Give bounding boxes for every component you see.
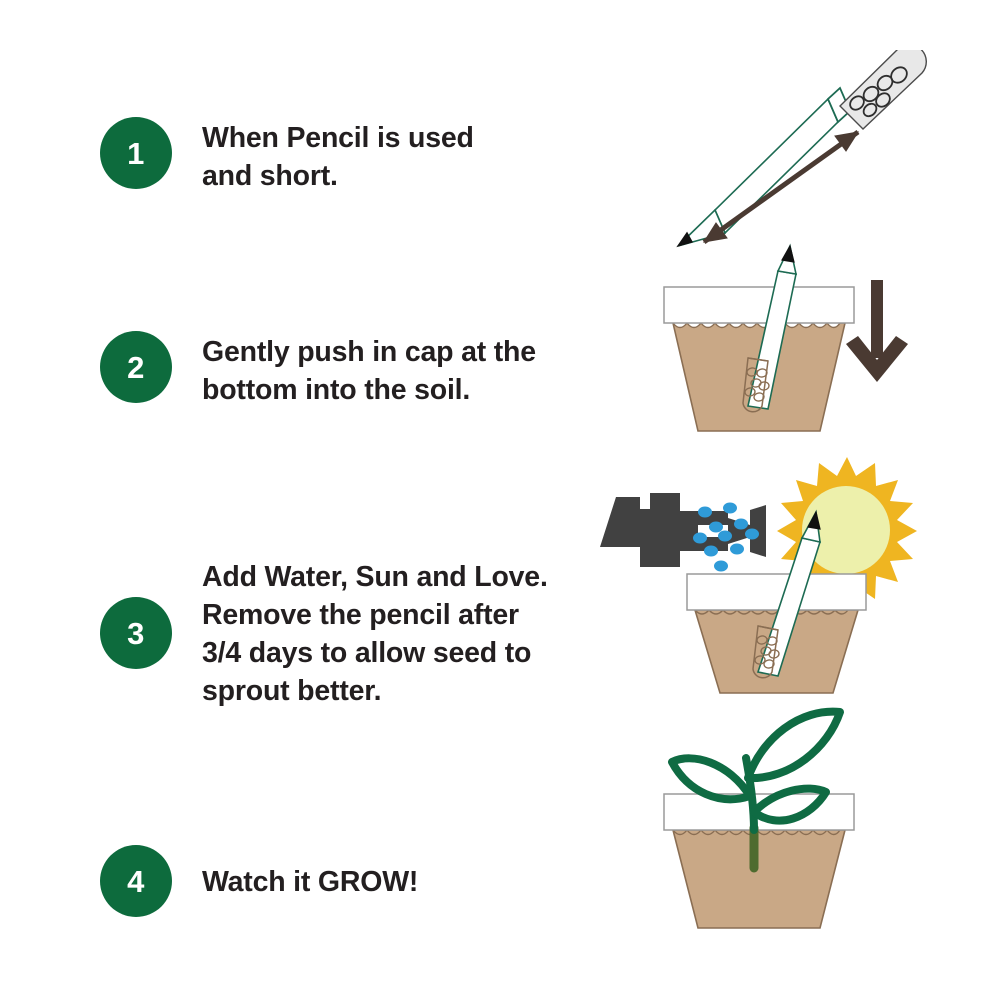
infographic-canvas: 1 When Pencil is used and short. — [0, 0, 1000, 1000]
watering-can-icon — [600, 493, 766, 567]
pot-watering-sun-icon — [580, 450, 940, 700]
water-sun-love-illustration — [580, 450, 940, 705]
arrow-down-icon — [846, 280, 908, 382]
pot-rim — [664, 287, 854, 323]
pot-with-seedling-icon — [650, 700, 930, 940]
inserted-pencil-tip — [782, 246, 794, 262]
step-3: 3 Add Water, Sun and Love. Remove the pe… — [100, 556, 548, 710]
pencil-body — [678, 88, 850, 246]
seed-capsule — [840, 50, 926, 129]
step-instruction-1: When Pencil is used and short. — [202, 117, 474, 195]
step-number-badge-2: 2 — [100, 331, 172, 403]
step-instruction-2: Gently push in cap at the bottom into th… — [202, 331, 536, 409]
step-number-badge-4: 4 — [100, 845, 172, 917]
step-2: 2 Gently push in cap at the bottom into … — [100, 331, 536, 409]
step-1: 1 When Pencil is used and short. — [100, 117, 474, 195]
pot-soil-body — [673, 830, 845, 928]
step-number-badge-1: 1 — [100, 117, 172, 189]
push-into-soil-illustration — [650, 240, 940, 455]
pot-rim — [687, 574, 866, 610]
step-4: 4 Watch it GROW! — [100, 845, 418, 917]
step-instruction-4: Watch it GROW! — [202, 861, 418, 901]
leaf-left — [672, 758, 750, 799]
leaf-top-right — [748, 712, 840, 778]
step-number-badge-3: 3 — [100, 597, 172, 669]
pencil-icon — [650, 50, 980, 270]
grow-illustration — [650, 700, 930, 945]
step-instruction-3: Add Water, Sun and Love. Remove the penc… — [202, 556, 548, 710]
pot-with-pencil-icon — [650, 240, 940, 450]
